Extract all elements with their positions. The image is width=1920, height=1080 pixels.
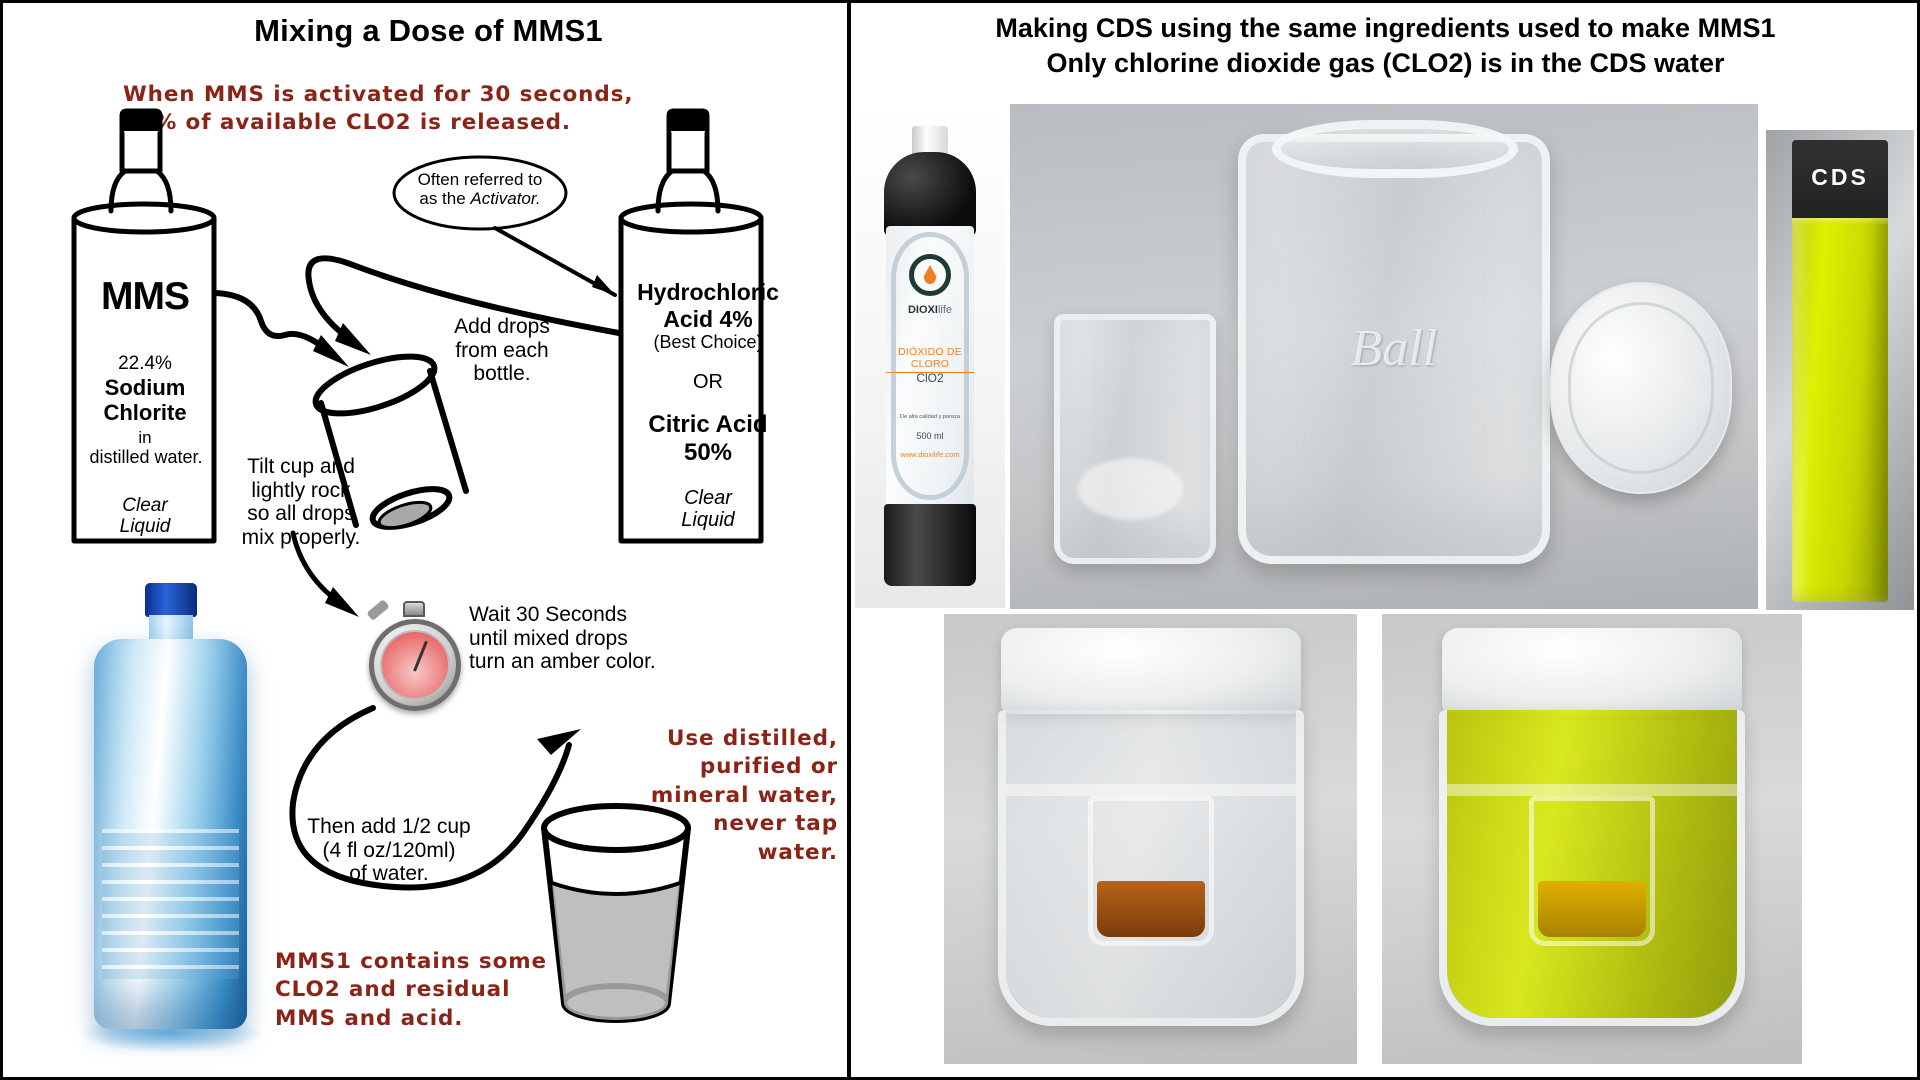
note-wait-30-seconds: Wait 30 Seconds until mixed drops turn a… bbox=[469, 603, 699, 674]
brand-bold-part: DIOXI bbox=[908, 304, 938, 316]
acid-bottle-alternative: Citric Acid 50% bbox=[628, 411, 788, 467]
dioxi-quality-text: De alta calidad y pureza bbox=[886, 414, 974, 420]
stopwatch-graphic bbox=[361, 601, 471, 721]
note-then-add-water: Then add 1/2 cup (4 fl oz/120ml) of wate… bbox=[289, 815, 489, 886]
mms-bottle-in: in bbox=[81, 428, 209, 448]
dioxi-product-name: DIÓXIDO DE CLORO bbox=[886, 346, 974, 373]
mms-bottle-water: distilled water. bbox=[73, 447, 219, 468]
acid-bottle-or: OR bbox=[628, 371, 788, 394]
water-bottle-body bbox=[94, 639, 247, 1029]
droplet-logo-icon bbox=[909, 254, 951, 296]
ball-jar-brand-script: Ball bbox=[1238, 319, 1550, 378]
dioxi-bottle-label: DIOXIlife DIÓXIDO DE CLORO ClO2 De alta … bbox=[886, 226, 974, 506]
note-add-drops: Add drops from each bottle. bbox=[427, 315, 577, 386]
right-title-line-2: Only chlorine dioxide gas (CLO2) is in t… bbox=[1046, 48, 1724, 78]
acid-bottle-state: Clear Liquid bbox=[628, 487, 788, 532]
right-title-line-1: Making CDS using the same ingredients us… bbox=[995, 13, 1775, 43]
dioxi-volume: 500 ml bbox=[886, 431, 974, 441]
callout-line-2-prefix: as the bbox=[419, 189, 470, 208]
water-bottle-photo bbox=[88, 583, 253, 1053]
photo-jar-amber-stage bbox=[944, 614, 1357, 1064]
note-activation-red: When MMS is activated for 30 seconds, 10… bbox=[123, 81, 743, 138]
infographic-root: Mixing a Dose of MMS1 When MMS is activa… bbox=[0, 0, 1920, 1080]
photo-jar-and-glass: Ball bbox=[1010, 104, 1758, 609]
yellow-jar-water-surface bbox=[1447, 784, 1737, 796]
dioxi-bottle-base bbox=[884, 504, 976, 586]
callout-activator-emphasis: Activator. bbox=[470, 189, 540, 208]
dioxi-bottle-shoulder bbox=[884, 152, 976, 236]
note-mms1-contains-red: MMS1 contains some CLO2 and residual MMS… bbox=[275, 948, 605, 1033]
amber-jar-lid bbox=[1001, 628, 1301, 714]
mms-bottle-name: MMS bbox=[81, 275, 209, 319]
note-use-distilled-water-red: Use distilled, purified or mineral water… bbox=[623, 725, 838, 867]
yellow-jar-body bbox=[1439, 710, 1745, 1026]
callout-line-1: Often referred to bbox=[418, 170, 543, 189]
dioxi-formula: ClO2 bbox=[886, 371, 974, 385]
water-bottle-neck bbox=[149, 615, 193, 641]
photo-jar-yellow-stage bbox=[1382, 614, 1802, 1064]
water-bottle-ribs bbox=[102, 829, 239, 979]
dioxi-brand-name: DIOXIlife bbox=[886, 304, 974, 316]
dioxi-website: www.dioxilife.com bbox=[886, 450, 974, 459]
yellow-jar-inner-cup bbox=[1529, 796, 1655, 946]
ball-jar-lid bbox=[1550, 282, 1732, 494]
acid-bottle-best-choice: (Best Choice) bbox=[628, 332, 788, 353]
photo-cds-cylinder: CDS bbox=[1766, 130, 1914, 610]
mms-bottle-percent: 22.4% bbox=[81, 353, 209, 375]
glass-tumbler bbox=[1054, 314, 1216, 564]
photo-dioxilife-bottle: DIOXIlife DIÓXIDO DE CLORO ClO2 De alta … bbox=[855, 108, 1005, 608]
mms-bottle-state: Clear Liquid bbox=[81, 495, 209, 538]
mms-bottle-chemical: Sodium Chlorite bbox=[81, 375, 209, 425]
note-tilt-cup: Tilt cup and lightly rock so all drops m… bbox=[221, 455, 381, 550]
yellow-jar-lid bbox=[1442, 628, 1742, 714]
cds-cylinder-label-band: CDS bbox=[1792, 140, 1888, 218]
left-panel-title: Mixing a Dose of MMS1 bbox=[3, 13, 854, 49]
acid-bottle-name: Hydrochloric Acid 4% bbox=[628, 279, 788, 333]
dioxi-bottle: DIOXIlife DIÓXIDO DE CLORO ClO2 De alta … bbox=[884, 126, 976, 586]
amber-jar-inner-cup bbox=[1088, 796, 1214, 946]
cds-label-text: CDS bbox=[1792, 164, 1888, 191]
water-bottle-cap bbox=[145, 583, 197, 617]
left-panel-mms1: Mixing a Dose of MMS1 When MMS is activa… bbox=[0, 0, 851, 1080]
brand-light-part: life bbox=[938, 304, 952, 316]
amber-inner-liquid bbox=[1097, 881, 1205, 937]
amber-jar-body bbox=[998, 710, 1304, 1026]
yellow-inner-liquid bbox=[1538, 881, 1646, 937]
callout-activator: Often referred to as the Activator. bbox=[405, 170, 555, 208]
amber-jar-water-surface bbox=[1006, 784, 1296, 796]
right-panel-title: Making CDS using the same ingredients us… bbox=[851, 11, 1920, 80]
ball-jar-rim bbox=[1272, 120, 1518, 178]
